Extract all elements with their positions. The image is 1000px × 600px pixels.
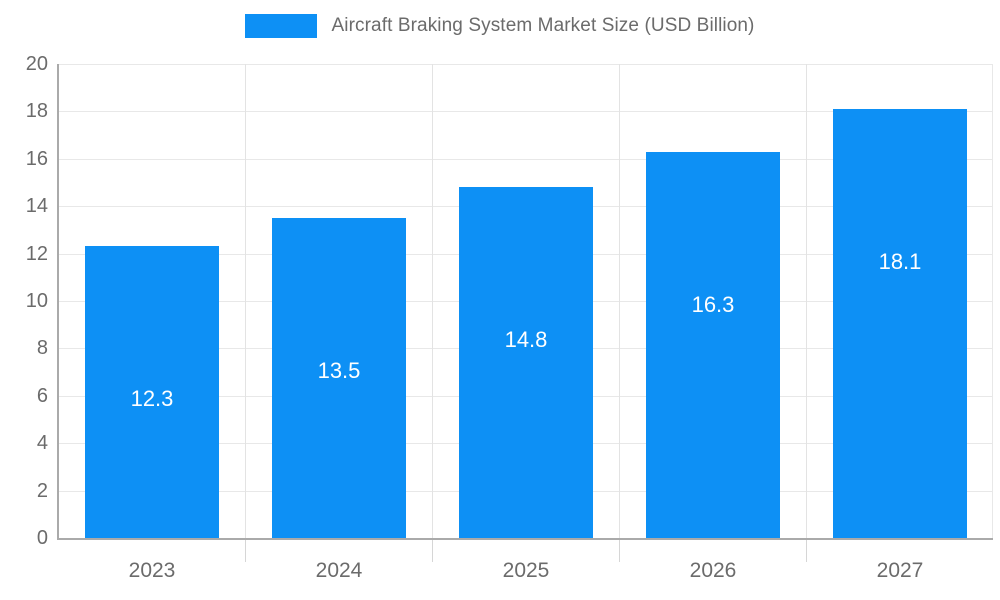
legend-item-label: Aircraft Braking System Market Size (USD…	[331, 15, 754, 37]
x-axis-tick	[806, 540, 807, 562]
y-axis-tick-label: 20	[4, 54, 48, 74]
chart-legend: Aircraft Braking System Market Size (USD…	[0, 0, 1000, 52]
bar-value-label: 18.1	[879, 251, 922, 273]
x-axis-tick-label: 2027	[877, 560, 924, 581]
y-axis-tick-label: 18	[4, 101, 48, 121]
bar-value-label: 12.3	[131, 388, 174, 410]
x-axis-tick-label: 2025	[503, 560, 550, 581]
y-axis-labels: 02468101214161820	[0, 64, 48, 538]
x-axis-tick-label: 2023	[129, 560, 176, 581]
y-axis-tick-label: 16	[4, 149, 48, 169]
x-axis-tick	[619, 540, 620, 562]
y-axis-tick-label: 14	[4, 196, 48, 216]
x-axis-labels: 20232024202520262027	[58, 560, 993, 590]
legend-swatch-icon	[245, 14, 317, 38]
y-axis-tick-label: 0	[4, 528, 48, 548]
y-axis-tick-label: 12	[4, 244, 48, 264]
y-axis-tick-label: 2	[4, 481, 48, 501]
plot-area: 12.313.514.816.318.1	[58, 64, 993, 538]
bar[interactable]	[459, 187, 593, 538]
bar-value-label: 13.5	[318, 360, 361, 382]
gridline	[432, 64, 433, 538]
y-axis-tick-label: 6	[4, 386, 48, 406]
y-axis-tick-label: 10	[4, 291, 48, 311]
x-axis-tick-label: 2024	[316, 560, 363, 581]
bar-chart: Aircraft Braking System Market Size (USD…	[0, 0, 1000, 600]
x-axis-tick	[432, 540, 433, 562]
gridline	[619, 64, 620, 538]
y-axis-tick-label: 4	[4, 433, 48, 453]
bar-value-label: 14.8	[505, 329, 548, 351]
bar[interactable]	[833, 109, 967, 538]
x-axis-line	[58, 538, 993, 540]
x-axis-tick	[245, 540, 246, 562]
y-axis-tick-label: 8	[4, 338, 48, 358]
bar[interactable]	[646, 152, 780, 538]
gridline	[806, 64, 807, 538]
bar-value-label: 16.3	[692, 294, 735, 316]
y-axis-line	[57, 64, 59, 540]
x-axis-tick-label: 2026	[690, 560, 737, 581]
legend-item[interactable]: Aircraft Braking System Market Size (USD…	[245, 14, 754, 38]
gridline	[58, 64, 993, 65]
gridline	[245, 64, 246, 538]
